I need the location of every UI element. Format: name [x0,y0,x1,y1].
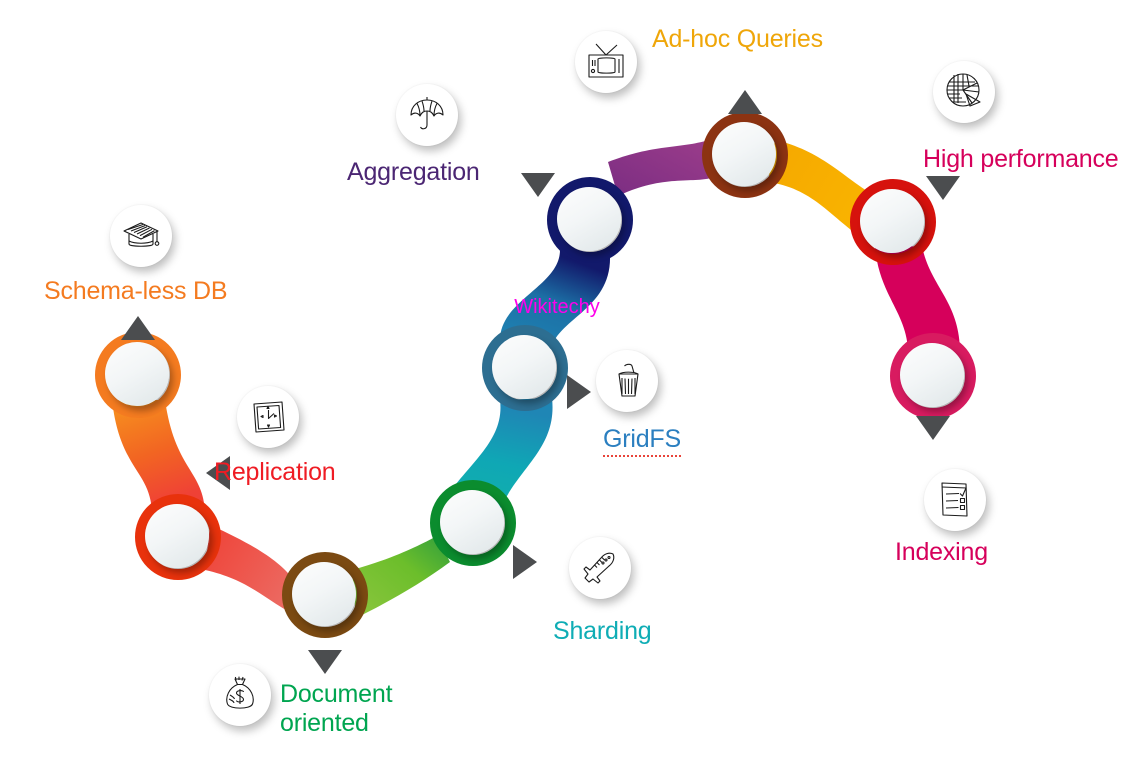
node-ad-hoc-queries[interactable] [702,112,788,198]
node-sharding[interactable] [430,480,516,566]
label-indexing: Indexing [895,538,988,567]
node-bead-inner [860,189,924,253]
pointer-triangle-ad-hoc-queries [728,90,762,114]
pie-chart-icon [933,61,995,123]
node-replication[interactable] [135,494,221,580]
node-bead-inner [900,343,964,407]
pointer-triangle-indexing [916,416,950,440]
node-indexing[interactable] [890,333,976,419]
pointer-triangle-sharding [513,545,537,579]
label-gridfs: GridFS [603,425,681,457]
label-ad-hoc-queries: Ad-hoc Queries [652,25,823,54]
node-bead-inner [712,122,776,186]
television-icon [575,31,637,93]
node-bead-inner [557,187,621,251]
node-bead-inner [492,335,556,399]
label-replication: Replication [214,458,335,487]
node-bead-inner [105,342,169,406]
label-aggregation: Aggregation [347,158,480,187]
label-schema-less-db: Schema-less DB [44,277,227,306]
node-bead-inner [145,504,209,568]
node-high-performance[interactable] [850,179,936,265]
connector-document-sharding [352,536,450,618]
pointer-triangle-aggregation [521,173,555,197]
clock-icon [237,386,299,448]
drink-cup-icon [596,350,658,412]
airplane-icon [569,537,631,599]
node-schema-less-db[interactable] [95,332,181,418]
pointer-triangle-schema-less-db [121,316,155,340]
pointer-triangle-document-oriented [308,650,342,674]
label-sharding: Sharding [553,617,651,646]
pointer-triangle-gridfs [567,375,591,409]
node-bead-inner [440,490,504,554]
node-gridfs[interactable] [482,325,568,411]
pointer-triangle-high-performance [926,176,960,200]
graduation-cap-icon [110,205,172,267]
label-document-oriented: Document oriented [280,680,392,738]
node-aggregation[interactable] [547,177,633,263]
node-bead-inner [292,562,356,626]
label-high-performance: High performance [923,145,1119,174]
infographic-canvas: Schema-less DBReplicationDocument orient… [0,0,1137,773]
watermark-wikitechy: Wikitechy [514,296,600,318]
umbrella-icon [396,84,458,146]
node-document-oriented[interactable] [282,552,368,638]
money-bag-icon [209,664,271,726]
checklist-icon [924,469,986,531]
